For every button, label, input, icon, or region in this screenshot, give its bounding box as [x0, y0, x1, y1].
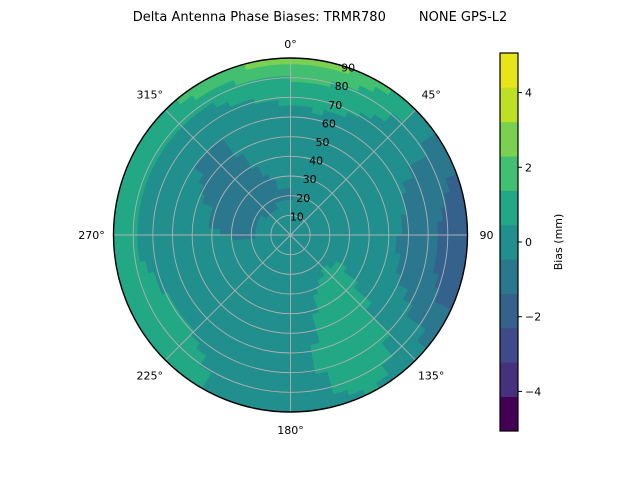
colorbar-title: Bias (mm)	[552, 214, 565, 271]
radial-tick-label: 40	[309, 155, 323, 168]
colorbar-band	[500, 362, 518, 397]
figure-canvas: Delta Antenna Phase Biases: TRMR780 NONE…	[0, 0, 640, 480]
angular-tick-label: 225°	[137, 370, 164, 383]
colorbar-band	[500, 259, 518, 294]
radial-tick-label: 80	[335, 80, 349, 93]
page-title: Delta Antenna Phase Biases: TRMR780 NONE…	[0, 10, 640, 25]
colorbar-band	[500, 87, 518, 122]
angular-tick-label: 135°	[418, 370, 445, 383]
colorbar-band	[500, 190, 518, 225]
colorbar-tick-label: −4	[525, 385, 541, 398]
angular-tick-label: 180°	[277, 424, 304, 437]
angular-tick-label: 315°	[137, 88, 164, 101]
colorbar-band	[500, 294, 518, 329]
colorbar-band	[500, 328, 518, 363]
radial-tick-label: 10	[290, 210, 304, 223]
colorbar-tick-label: 0	[525, 236, 532, 249]
colorbar-band	[500, 122, 518, 157]
radial-tick-label: 20	[296, 192, 310, 205]
colorbar-band	[500, 53, 518, 88]
polar-grid	[114, 58, 468, 412]
angular-tick-label: 0°	[284, 38, 297, 51]
polar-plot[interactable]: 0°45°90135°180°225°270°315°1020304050607…	[0, 0, 640, 480]
colorbar-tick-label: 2	[525, 161, 532, 174]
radial-tick-label: 60	[322, 117, 336, 130]
radial-tick-label: 90	[341, 62, 355, 75]
colorbar-tick-label: 4	[525, 87, 532, 100]
colorbar-band	[500, 225, 518, 260]
colorbar-tick-label: −2	[525, 311, 541, 324]
angular-tick-label: 270°	[78, 229, 105, 242]
radial-tick-label: 30	[303, 173, 317, 186]
colorbar-band	[500, 397, 518, 432]
angular-tick-label: 45°	[421, 88, 441, 101]
angular-tick-label: 90	[480, 229, 494, 242]
colorbar[interactable]: 420−2−4Bias (mm)	[500, 53, 565, 431]
radial-tick-label: 70	[328, 99, 342, 112]
radial-tick-label: 50	[316, 136, 330, 149]
colorbar-band	[500, 156, 518, 191]
